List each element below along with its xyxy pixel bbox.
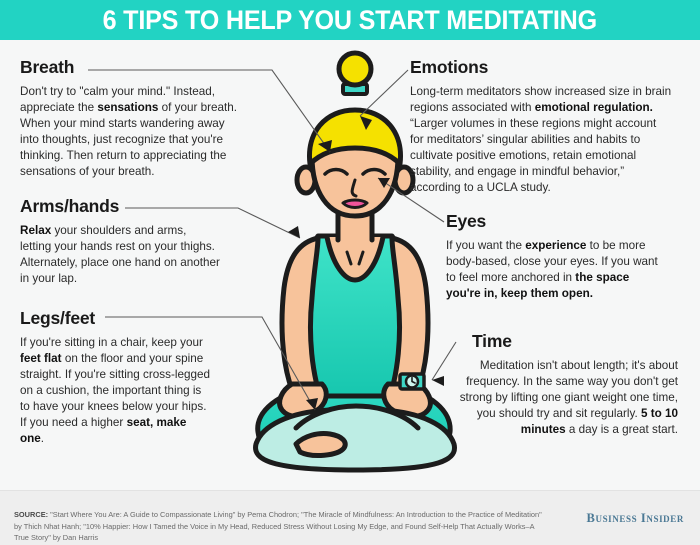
eyes-text-1: If you want the [446,239,525,252]
callout-emotions: Emotions Long-term meditators show incre… [410,58,672,196]
callout-time-body: Meditation isn't about length; it's abou… [452,358,678,438]
legs-bold-1: feet flat [20,352,62,365]
source-credit: SOURCE: "Start Where You Are: A Guide to… [14,509,544,542]
callout-emotions-title: Emotions [410,58,672,77]
callout-breath-title: Breath [20,58,238,77]
callout-legs: Legs/feet If you're sitting in a chair, … [20,309,212,447]
wristwatch [400,374,424,389]
breath-bold-1: sensations [97,101,158,114]
callout-eyes-title: Eyes [446,212,664,231]
emotions-text-2: “Larger volumes in these regions might a… [410,117,656,194]
business-insider-logo: Business Insider [587,511,684,526]
legs-text-1: If you're sitting in a chair, keep your [20,336,203,349]
emotions-bold-1: emotional regulation. [535,101,653,114]
callout-eyes-body: If you want the experience to be more bo… [446,238,664,302]
callout-arms-body: Relax your shoulders and arms, letting y… [20,223,220,287]
eyes-bold-1: experience [525,239,586,252]
callout-time-title: Time [452,332,678,351]
callout-breath-body: Don't try to "calm your mind." Instead, … [20,84,238,180]
callout-emotions-body: Long-term meditators show increased size… [410,84,672,196]
page-title: 6 TIPS TO HELP YOU START MEDITATING [103,7,597,34]
legs-text-3: . [41,432,44,445]
callout-breath: Breath Don't try to "calm your mind." In… [20,58,238,180]
callout-arms-title: Arms/hands [20,197,220,216]
source-body: "Start Where You Are: A Guide to Compass… [14,510,542,541]
callout-legs-body: If you're sitting in a chair, keep your … [20,335,212,447]
callout-legs-title: Legs/feet [20,309,212,328]
callout-eyes: Eyes If you want the experience to be mo… [446,212,664,302]
source-label: SOURCE: [14,510,48,519]
callout-time: Time Meditation isn't about length; it's… [452,332,678,438]
callout-arms: Arms/hands Relax your shoulders and arms… [20,197,220,287]
arms-bold-1: Relax [20,224,51,237]
head-group [297,53,413,216]
header-bar: 6 TIPS TO HELP YOU START MEDITATING [0,0,700,40]
time-text-2: a day is a great start. [566,423,678,436]
footer-bar: SOURCE: "Start Where You Are: A Guide to… [0,490,700,545]
infographic-root: 6 TIPS TO HELP YOU START MEDITATING Woma… [0,0,700,545]
